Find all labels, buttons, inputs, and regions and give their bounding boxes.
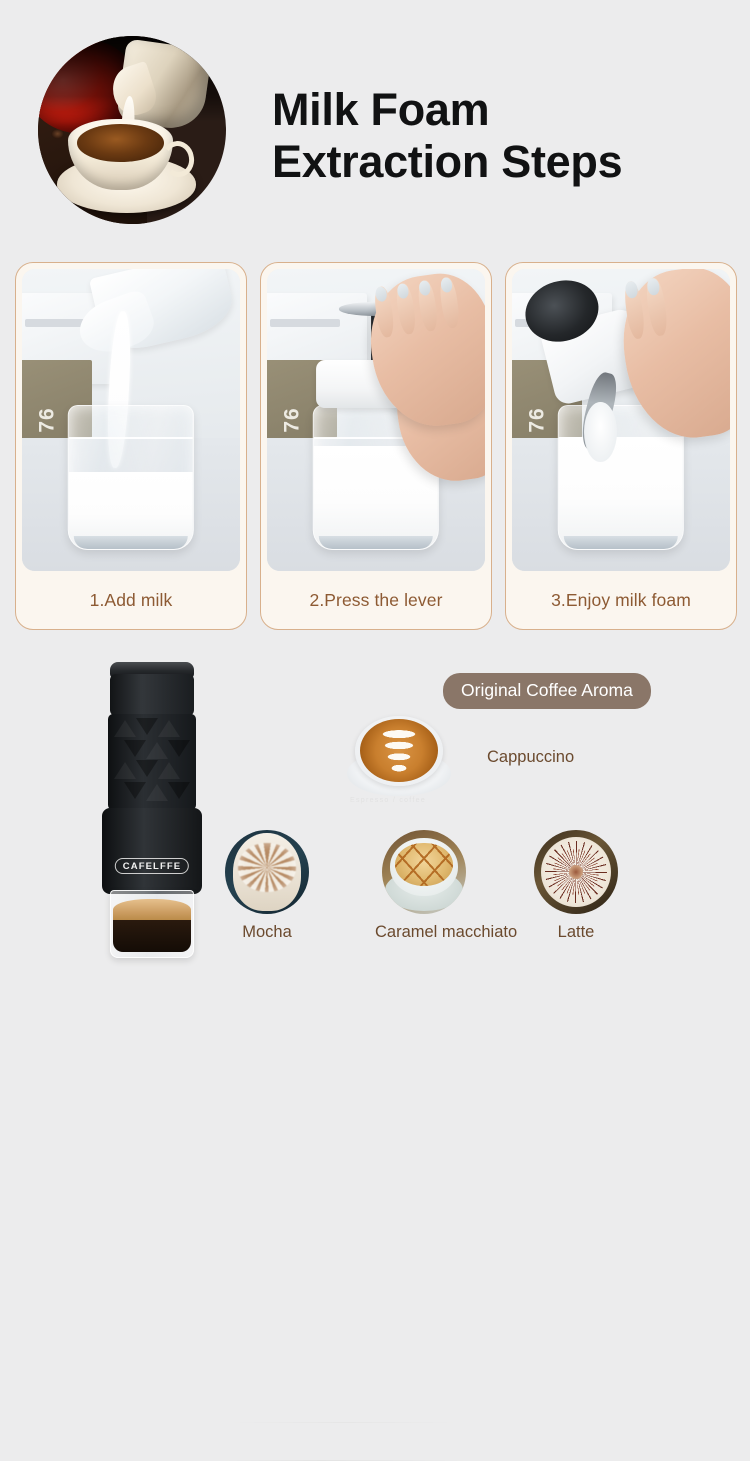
latte-thumbnail [534,830,618,914]
step-1-caption: 1.Add milk [22,571,240,629]
cappuccino-image [345,712,453,800]
cappuccino-label: Cappuccino [487,748,574,767]
mocha-cocoa-swirl [238,843,295,892]
drink-item-latte: Latte [527,830,625,942]
step-1-photo: 76 [22,269,240,571]
watermark-text: Espresso / coffee [350,797,426,804]
foam-on-whisk [584,402,617,462]
machine-top-chamber [110,674,194,716]
finger [645,277,669,336]
glass-base [564,536,678,549]
mocha-label: Mocha [218,923,316,942]
machine-grip-panel [108,714,196,810]
step-3-photo: 76 [512,269,730,571]
glass-cup [68,405,194,550]
step-2-photo: 76 [267,269,485,571]
fingernail [417,279,431,296]
page-title: Milk Foam Extraction Steps [272,84,622,188]
fingernail [439,276,453,293]
finger [372,285,395,338]
scene-box-label: 76 [281,407,305,432]
step-3-caption: 3.Enjoy milk foam [512,571,730,629]
scene-box-label: 76 [36,407,60,432]
drink-variants-row: Mocha Caramel macchiato Latte [0,830,750,960]
drink-item-caramel-macchiato: Caramel macchiato [375,830,473,942]
glass-rim-line [559,437,683,439]
glass-base [319,536,433,549]
aroma-badge: Original Coffee Aroma [443,673,651,709]
scene-box-label: 76 [526,407,550,432]
latte-label: Latte [527,923,625,942]
step-card-1: 76 1.Add milk [15,262,247,630]
step-card-3: 76 3.Enjoy milk foam [505,262,737,630]
hero-coffee-image [38,36,226,224]
divider-line-top [228,1422,460,1423]
page-title-line-1: Milk Foam [272,84,622,136]
foam-fill [559,437,683,549]
page-title-line-2: Extraction Steps [272,136,622,188]
latte-art-core [569,865,583,879]
finger [416,279,439,332]
header-section: Milk Foam Extraction Steps [0,0,750,248]
latte-cup [541,837,612,908]
mocha-thumbnail [225,830,309,914]
step-card-2: 76 2.Press the lever [260,262,492,630]
glass-rim-line [69,437,193,439]
step-2-caption: 2.Press the lever [267,571,485,629]
finger [622,280,646,339]
finger [437,276,460,329]
cappuccino-latte-art [360,719,438,782]
glass-base [74,536,188,549]
coffee-surface [77,124,163,162]
fingernail [647,277,661,296]
fingernail [396,282,410,299]
drink-item-mocha: Mocha [218,830,316,942]
caramel-macchiato-thumbnail [382,830,466,914]
finger [394,282,417,335]
caramel-drizzle [395,843,452,887]
caramel-macchiato-label: Caramel macchiato [375,923,473,942]
steps-section: 76 1.Add milk 76 [0,262,750,634]
cm-crema [395,843,452,887]
